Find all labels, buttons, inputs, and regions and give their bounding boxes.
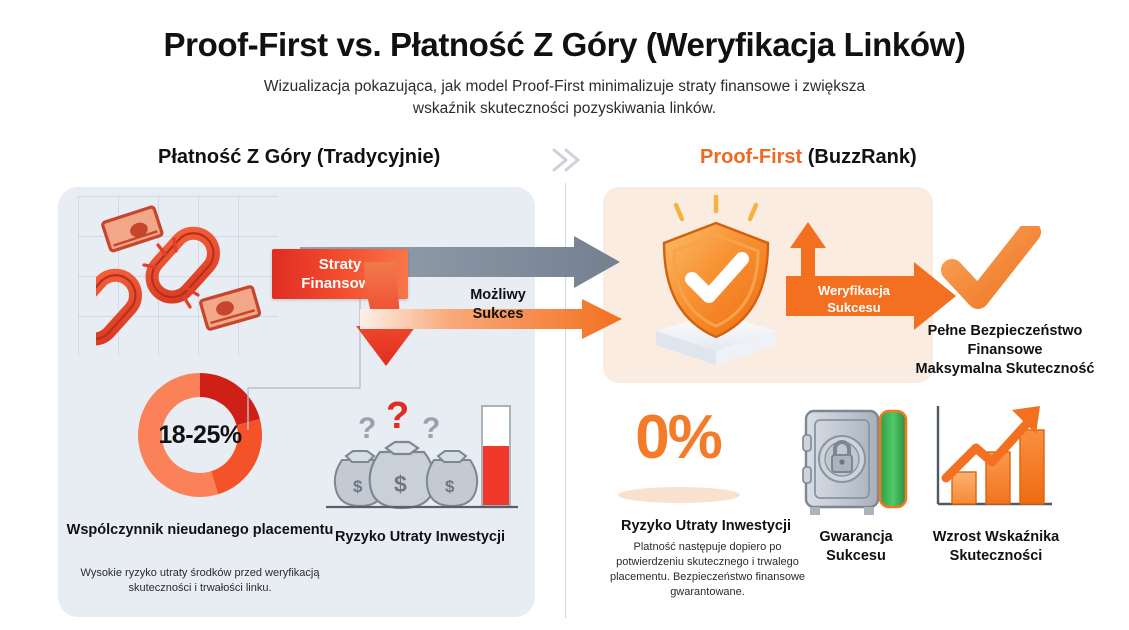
- column-heading-proof-first: Proof-First (BuzzRank): [700, 146, 917, 169]
- heading-accent-text: Proof-First: [700, 146, 802, 168]
- svg-text:?: ?: [422, 412, 440, 445]
- broken-chain-money-icon: [96, 205, 266, 350]
- possible-success-label: Możliwy Sukces: [444, 286, 552, 324]
- possible-success-line-2: Sukces: [473, 306, 524, 322]
- growth-title-line-1: Wzrost Wskaźnika: [933, 529, 1060, 545]
- safe-title-line-1: Gwarancja: [819, 529, 892, 545]
- donut-title: Wspólczynnik nieudanego placementu: [60, 521, 340, 540]
- bags-title: Ryzyko Utraty Inwestycji: [320, 528, 520, 547]
- final-benefit-text: Pełne Bezpieczeństwo Finansowe Maksymaln…: [890, 322, 1120, 379]
- page-title: Proof-First vs. Płatność Z Góry (Weryfik…: [0, 26, 1129, 64]
- zero-risk-title: Ryzyko Utraty Inwestycji: [596, 517, 816, 536]
- verification-line-2: Sukcesu: [827, 300, 880, 315]
- final-line-3: Maksymalna Skuteczność: [916, 361, 1095, 377]
- possible-success-line-1: Możliwy: [470, 287, 526, 303]
- final-line-2: Finansowe: [968, 342, 1043, 358]
- heading-rest-text: (BuzzRank): [802, 146, 916, 168]
- infographic-canvas: Proof-First vs. Płatność Z Góry (Weryfik…: [0, 0, 1129, 630]
- safe-title: Gwarancja Sukcesu: [800, 528, 912, 566]
- safe-title-line-2: Sukcesu: [826, 548, 886, 564]
- final-line-1: Pełne Bezpieczeństwo: [928, 323, 1083, 339]
- shield-check-icon: [636, 195, 796, 375]
- verification-line-1: Weryfikacja: [818, 283, 890, 298]
- safe-lock-icon: [802, 405, 910, 525]
- column-heading-traditional: Płatność Z Góry (Tradycyjnie): [158, 146, 440, 169]
- svg-text:$: $: [445, 477, 455, 496]
- verification-label: Weryfikacja Sukcesu: [800, 282, 908, 316]
- page-subtitle: Wizualizacja pokazująca, jak model Proof…: [0, 76, 1129, 120]
- svg-text:?: ?: [358, 412, 376, 445]
- svg-text:$: $: [353, 477, 363, 496]
- subtitle-line-2: wskaźnik skuteczności pozyskiwania linkó…: [0, 98, 1129, 120]
- svg-text:?: ?: [386, 400, 409, 437]
- subtitle-line-1: Wizualizacja pokazująca, jak model Proof…: [0, 76, 1129, 98]
- zero-shadow-ellipse: [618, 487, 740, 503]
- growth-bar-chart-icon: [928, 400, 1058, 525]
- money-bags-question-risk-icon: ? ? ? $ $ $: [322, 400, 522, 520]
- growth-title-line-2: Skuteczności: [950, 548, 1043, 564]
- growth-title: Wzrost Wskaźnika Skuteczności: [912, 528, 1080, 566]
- zero-risk-caption: Platność następuje dopiero po potwierdze…: [600, 540, 815, 600]
- svg-text:$: $: [394, 471, 407, 497]
- zero-risk-value: 0%: [598, 405, 758, 471]
- donut-caption: Wysokie ryzyko utraty środków przed wery…: [62, 566, 338, 596]
- chevron-right-icon: [548, 144, 588, 176]
- big-check-icon: [938, 226, 1042, 318]
